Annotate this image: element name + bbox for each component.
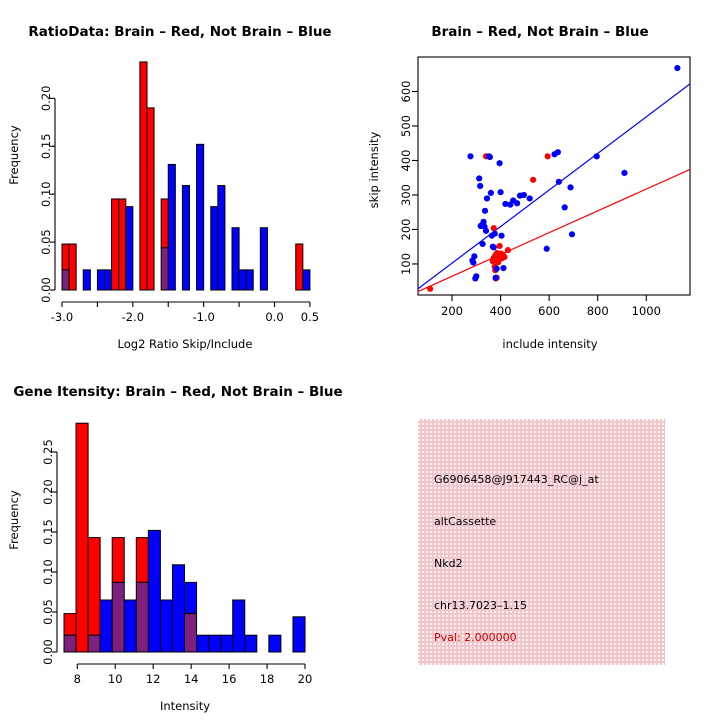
x-axis-tick-label: 0.0 (265, 310, 283, 324)
histogram-bar (182, 186, 189, 290)
scatter-point (521, 192, 527, 198)
panel-gene-intensity-histogram: Gene Itensity: Brain – Red, Not Brain – … (0, 360, 360, 720)
x-axis-tick-label: 200 (441, 304, 463, 318)
histogram-bar (245, 635, 257, 652)
scatter-point (491, 225, 497, 231)
histogram-bar (221, 635, 233, 652)
histogram-bar-overlap (64, 635, 76, 652)
scatter-point (476, 175, 482, 181)
histogram-bar (88, 538, 100, 636)
scatter-point (487, 154, 493, 160)
scatter-point (555, 149, 561, 155)
scatter-point (562, 204, 568, 210)
histogram-bar (100, 600, 112, 652)
scatter-point (483, 228, 489, 234)
y-axis-tick-label: 0.05 (41, 599, 55, 625)
scatter-point (556, 179, 562, 185)
histogram-bar (269, 635, 281, 652)
scatter-point (567, 184, 573, 190)
ratio-histogram-svg: RatioData: Brain – Red, Not Brain – Blue… (0, 0, 360, 360)
histogram-bar-overlap (88, 635, 100, 652)
histogram-bar (197, 144, 204, 290)
y-axis-tick-label: 500 (399, 115, 413, 137)
histogram-bar (105, 270, 112, 290)
scatter-point (494, 250, 500, 256)
scatter-point (477, 183, 483, 189)
scatter-point (482, 208, 488, 214)
histogram-bar (83, 270, 90, 290)
histogram-bar (172, 565, 184, 652)
scatter-point (674, 65, 680, 71)
ratio-plot-area: 0.000.050.100.150.20-3.0-2.0-1.00.00.5 (39, 62, 319, 324)
histogram-bar (185, 582, 197, 613)
scatter-point (569, 231, 575, 237)
histogram-bar (140, 62, 147, 290)
scatter-point (467, 153, 473, 159)
y-axis-tick-label: 0.20 (39, 86, 53, 112)
scatter-point (497, 243, 503, 249)
regression-line (418, 169, 690, 291)
histogram-bar (148, 530, 160, 652)
histogram-bar (161, 199, 168, 248)
histogram-bar (69, 244, 76, 290)
histogram-bar (293, 617, 305, 652)
histogram-bar (218, 186, 225, 290)
histogram-bar-overlap (62, 270, 69, 290)
scatter-point (544, 246, 550, 252)
x-axis-tick-label: 0.5 (301, 310, 319, 324)
regression-line (418, 84, 690, 289)
scatter-point (492, 231, 498, 237)
histogram-bar (64, 614, 76, 636)
gene-symbol-text: Nkd2 (434, 557, 463, 570)
histogram-bar (211, 207, 218, 290)
y-axis-tick-label: 0.20 (41, 479, 55, 505)
x-axis-tick-label: 400 (490, 304, 512, 318)
x-axis-tick-label: -1.0 (192, 310, 214, 324)
scatter-point (427, 286, 433, 292)
scatter-point (505, 247, 511, 253)
scatter-y-axis-label: skip intensity (367, 131, 381, 208)
scatter-point (491, 244, 497, 250)
scatter-point (530, 177, 536, 183)
scatter-point (498, 233, 504, 239)
y-axis-tick-label: 0.00 (39, 277, 53, 303)
scatter-point (527, 195, 533, 201)
histogram-bar (168, 164, 175, 290)
x-axis-tick-label: 14 (184, 672, 199, 686)
x-axis-tick-label: 20 (298, 672, 313, 686)
histogram-bar (147, 108, 154, 290)
y-axis-tick-label: 0.00 (41, 639, 55, 665)
scatter-point (494, 266, 500, 272)
histogram-bar (126, 207, 133, 290)
scatter-point (514, 200, 520, 206)
event-type-text: altCassette (434, 515, 496, 528)
ratio-x-axis-label: Log2 Ratio Skip/Include (118, 337, 253, 351)
scatter-point (594, 153, 600, 159)
histogram-bar (97, 270, 104, 290)
y-axis-tick-label: 200 (399, 218, 413, 240)
panel-annotation-info: G6906458@J917443_RC@j_at altCassette Nkd… (360, 360, 720, 720)
gene-y-axis-label: Frequency (7, 490, 21, 550)
plot-frame (418, 57, 690, 295)
histogram-bar (232, 228, 239, 290)
ratio-chart-title: RatioData: Brain – Red, Not Brain – Blue (28, 24, 331, 40)
x-axis-tick-label: 8 (74, 672, 81, 686)
scatter-chart-title: Brain – Red, Not Brain – Blue (431, 24, 648, 40)
y-axis-tick-label: 0.15 (39, 133, 53, 159)
probe-id-text: G6906458@J917443_RC@j_at (434, 473, 599, 486)
y-axis-tick-label: 0.10 (39, 181, 53, 207)
panel-intensity-scatter: Brain – Red, Not Brain – Blue skip inten… (360, 0, 720, 360)
histogram-bar (303, 270, 310, 290)
y-axis-tick-label: 400 (399, 150, 413, 172)
y-axis-tick-label: 300 (399, 184, 413, 206)
x-axis-tick-label: -2.0 (122, 310, 144, 324)
x-axis-tick-label: 10 (108, 672, 123, 686)
locus-text: chr13.7023–1.15 (434, 599, 527, 612)
scatter-content (418, 65, 690, 292)
y-axis-tick-label: 0.10 (41, 559, 55, 585)
histogram-bar (112, 199, 119, 290)
x-axis-tick-label: 18 (260, 672, 275, 686)
histogram-bar-overlap (185, 614, 197, 652)
histogram-bar (233, 600, 245, 652)
gene-chart-title: Gene Itensity: Brain – Red, Not Brain – … (13, 384, 342, 400)
scatter-point (497, 160, 503, 166)
gene-histogram-svg: Gene Itensity: Brain – Red, Not Brain – … (0, 360, 360, 720)
scatter-point (500, 265, 506, 271)
x-axis-tick-label: 800 (587, 304, 609, 318)
x-axis-tick-label: 12 (146, 672, 161, 686)
histogram-bar (160, 600, 172, 652)
histogram-bar (197, 635, 209, 652)
histogram-bar (260, 228, 267, 290)
histogram-bar-overlap (112, 582, 124, 652)
scatter-point (545, 153, 551, 159)
histogram-bar (112, 538, 124, 583)
figure-canvas: RatioData: Brain – Red, Not Brain – Blue… (0, 0, 720, 720)
annotation-infobox: G6906458@J917443_RC@j_at altCassette Nkd… (418, 419, 665, 665)
histogram-bar (296, 244, 303, 290)
y-axis-tick-label: 600 (399, 81, 413, 103)
scatter-point (493, 275, 499, 281)
y-axis-tick-label: 0.05 (39, 229, 53, 255)
scatter-x-axis-label: include intensity (502, 337, 597, 351)
histogram-bar (124, 600, 136, 652)
x-axis-tick-label: 1000 (632, 304, 661, 318)
scatter-point (621, 170, 627, 176)
histogram-bar (209, 635, 221, 652)
scatter-point (497, 189, 503, 195)
histogram-bar-overlap (161, 248, 168, 290)
scatter-svg: Brain – Red, Not Brain – Blue skip inten… (360, 0, 720, 360)
histogram-bar-overlap (136, 582, 148, 652)
pval-text: Pval: 2.000000 (434, 631, 517, 644)
scatter-point (471, 253, 477, 259)
scatter-point (480, 241, 486, 247)
panel-ratio-histogram: RatioData: Brain – Red, Not Brain – Blue… (0, 0, 360, 360)
y-axis-tick-label: 100 (399, 253, 413, 275)
y-axis-tick-label: 0.25 (41, 439, 55, 465)
histogram-bar (62, 244, 69, 270)
histogram-bar (136, 538, 148, 583)
scatter-point (484, 195, 490, 201)
scatter-plot-area: 1002003004005006002004006008001000 (399, 57, 690, 318)
ratio-y-axis-label: Frequency (7, 125, 21, 185)
histogram-bar (119, 199, 126, 290)
y-axis-tick-label: 0.15 (41, 519, 55, 545)
histogram-bar (76, 423, 88, 652)
scatter-point (488, 190, 494, 196)
gene-x-axis-label: Intensity (160, 699, 210, 713)
x-axis-tick-label: 600 (538, 304, 560, 318)
x-axis-tick-label: 16 (222, 672, 237, 686)
gene-plot-area: 0.000.050.100.150.200.258101214161820 (41, 423, 312, 686)
histogram-bar (246, 270, 253, 290)
scatter-point (501, 254, 507, 260)
x-axis-tick-label: -3.0 (51, 310, 73, 324)
scatter-point (473, 273, 479, 279)
histogram-bar (239, 270, 246, 290)
scatter-point (470, 259, 476, 265)
